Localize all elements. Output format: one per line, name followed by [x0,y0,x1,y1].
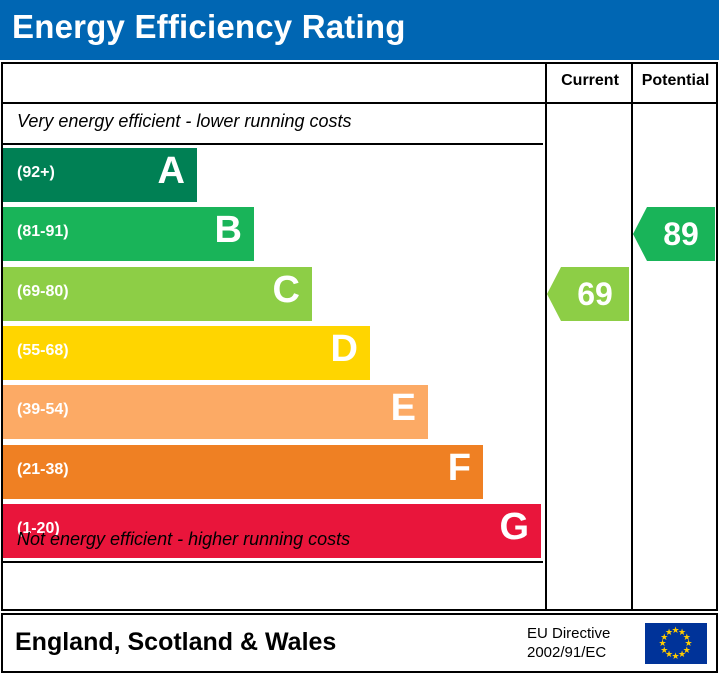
column-header-potential: Potential [633,72,718,90]
band-range-e: (39-54) [17,401,69,419]
region-label: England, Scotland & Wales [15,628,336,657]
caption-inefficient: Not energy efficient - higher running co… [17,529,350,550]
band-range-d: (55-68) [17,342,69,360]
band-letter-e: E [391,387,416,430]
rating-band-c: (69-80)C [3,267,312,321]
arrow-left-icon [633,207,647,261]
band-letter-g: G [499,506,529,549]
epc-certificate: Energy Efficiency Rating Current Potenti… [0,0,719,675]
potential-rating-marker: 89 [633,207,715,261]
current-rating-value: 69 [561,267,629,321]
header-row-divider [3,102,716,104]
band-letter-b: B [215,209,242,252]
rating-band-f: (21-38)F [3,445,483,499]
band-range-c: (69-80) [17,283,69,301]
chart-footer: England, Scotland & Wales EU Directive 2… [1,613,718,673]
rating-bands: (92+)A(81-91)B(69-80)C(55-68)D(39-54)E(2… [3,145,543,561]
band-letter-a: A [158,150,185,193]
band-range-b: (81-91) [17,223,69,241]
caption-divider-bottom [3,561,543,563]
caption-efficient: Very energy efficient - lower running co… [17,111,352,132]
eu-directive-line2: 2002/91/EC [527,643,610,662]
column-header-current: Current [547,72,633,90]
potential-rating-value: 89 [647,207,715,261]
rating-band-d: (55-68)D [3,326,370,380]
band-letter-c: C [273,269,300,312]
eu-flag-icon: ★★★★★★★★★★★★ [645,623,707,664]
column-divider-current [545,64,547,609]
band-range-f: (21-38) [17,461,69,479]
eu-directive-text: EU Directive 2002/91/EC [527,624,610,662]
rating-band-a: (92+)A [3,148,197,202]
page-title: Energy Efficiency Rating [12,8,406,46]
chart-frame: Current Potential Very energy efficient … [1,62,718,611]
current-rating-marker: 69 [547,267,629,321]
band-letter-d: D [331,328,358,371]
chart-header: Energy Efficiency Rating [0,0,719,60]
arrow-left-icon [547,267,561,321]
rating-band-b: (81-91)B [3,207,254,261]
rating-band-e: (39-54)E [3,385,428,439]
column-divider-potential [631,64,633,609]
band-range-a: (92+) [17,164,55,182]
eu-directive-line1: EU Directive [527,624,610,643]
star-icon: ★ [665,628,673,637]
band-letter-f: F [448,447,471,490]
